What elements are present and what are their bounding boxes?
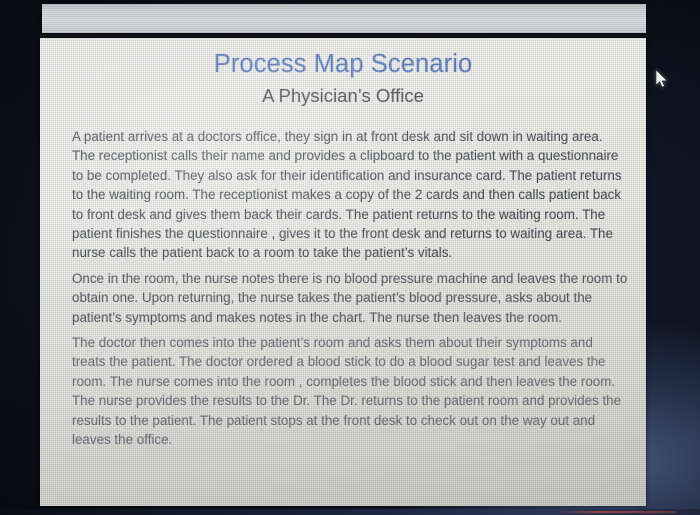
- arrow-cursor-icon: [655, 69, 668, 88]
- monitor-status-line: [556, 511, 676, 513]
- presentation-slide: Process Map Scenario A Physician’s Offic…: [40, 38, 646, 506]
- slide-body-text: A patient arrives at a doctors office, t…: [40, 107, 646, 450]
- monitor-photo: Process Map Scenario A Physician’s Offic…: [0, 0, 700, 515]
- slide-paragraph-1: A patient arrives at a doctors office, t…: [72, 127, 628, 263]
- slide-title: Process Map Scenario: [40, 38, 646, 79]
- application-top-bar: [42, 4, 646, 33]
- slide-content: Process Map Scenario A Physician’s Offic…: [40, 38, 646, 450]
- slide-paragraph-3: The doctor then comes into the patient’s…: [72, 333, 628, 449]
- slide-paragraph-2: Once in the room, the nurse notes there …: [72, 269, 628, 327]
- slide-subtitle: A Physician’s Office: [40, 79, 646, 107]
